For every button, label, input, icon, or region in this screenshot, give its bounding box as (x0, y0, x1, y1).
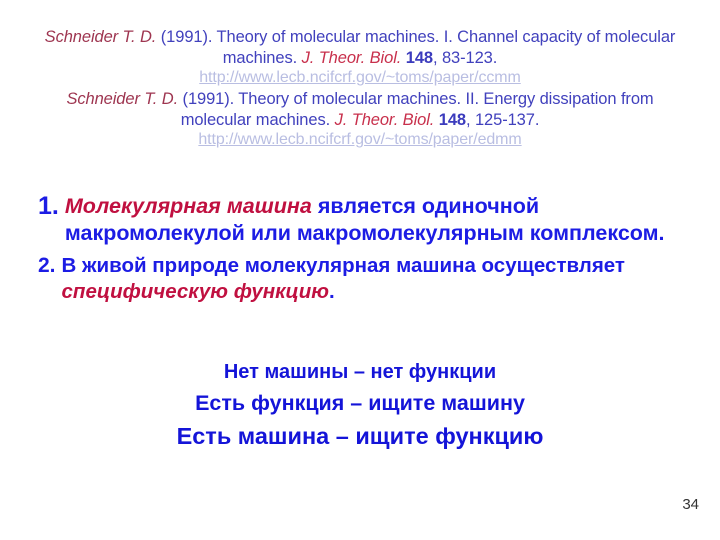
list-item-2-marker: 2. (38, 253, 62, 279)
conclusion-line-3: Есть машина – ищите функцию (40, 419, 680, 453)
list-item-2-tail: . (329, 280, 335, 303)
references-block: Schneider T. D. (1991). Theory of molecu… (40, 27, 680, 150)
list-item-2-body: В живой природе молекулярная машина осущ… (62, 253, 688, 305)
slide: Schneider T. D. (1991). Theory of molecu… (0, 0, 720, 540)
citation-1-author: Schneider T. D. (45, 28, 157, 46)
citation-2-author: Schneider T. D. (66, 90, 178, 108)
citation-1-url[interactable]: http://www.lecb.ncifcrf.gov/~toms/paper/… (40, 68, 680, 88)
citation-1-pages: , 83-123. (433, 49, 497, 67)
citation-2-volume: 148 (439, 111, 466, 129)
list-item-1-body: Молекулярная машина является одиночной м… (65, 193, 688, 247)
list-item-1: 1. Молекулярная машина является одиночно… (38, 193, 688, 247)
page-number: 34 (682, 496, 699, 513)
citation-2-url[interactable]: http://www.lecb.ncifcrf.gov/~toms/paper/… (40, 130, 680, 150)
list-item-1-marker: 1. (38, 193, 65, 220)
list-item-1-highlight: Молекулярная машина (65, 194, 312, 218)
conclusions-block: Нет машины – нет функции Есть функция – … (40, 357, 680, 453)
citation-2: Schneider T. D. (1991). Theory of molecu… (40, 89, 680, 150)
numbered-list: 1. Молекулярная машина является одиночно… (38, 193, 688, 305)
list-item-2: 2. В живой природе молекулярная машина о… (38, 253, 688, 305)
citation-1-volume: 148 (406, 49, 433, 67)
conclusion-line-1: Нет машины – нет функции (40, 357, 680, 387)
citation-1: Schneider T. D. (1991). Theory of molecu… (40, 27, 680, 88)
citation-2-pages: , 125-137. (466, 111, 539, 129)
citation-2-journal: J. Theor. Biol. (335, 111, 435, 129)
list-item-2-text: В живой природе молекулярная машина осущ… (62, 254, 625, 277)
conclusion-line-2: Есть функция – ищите машину (40, 387, 680, 419)
citation-1-journal: J. Theor. Biol. (302, 49, 402, 67)
list-item-2-highlight: специфическую функцию (62, 280, 330, 303)
